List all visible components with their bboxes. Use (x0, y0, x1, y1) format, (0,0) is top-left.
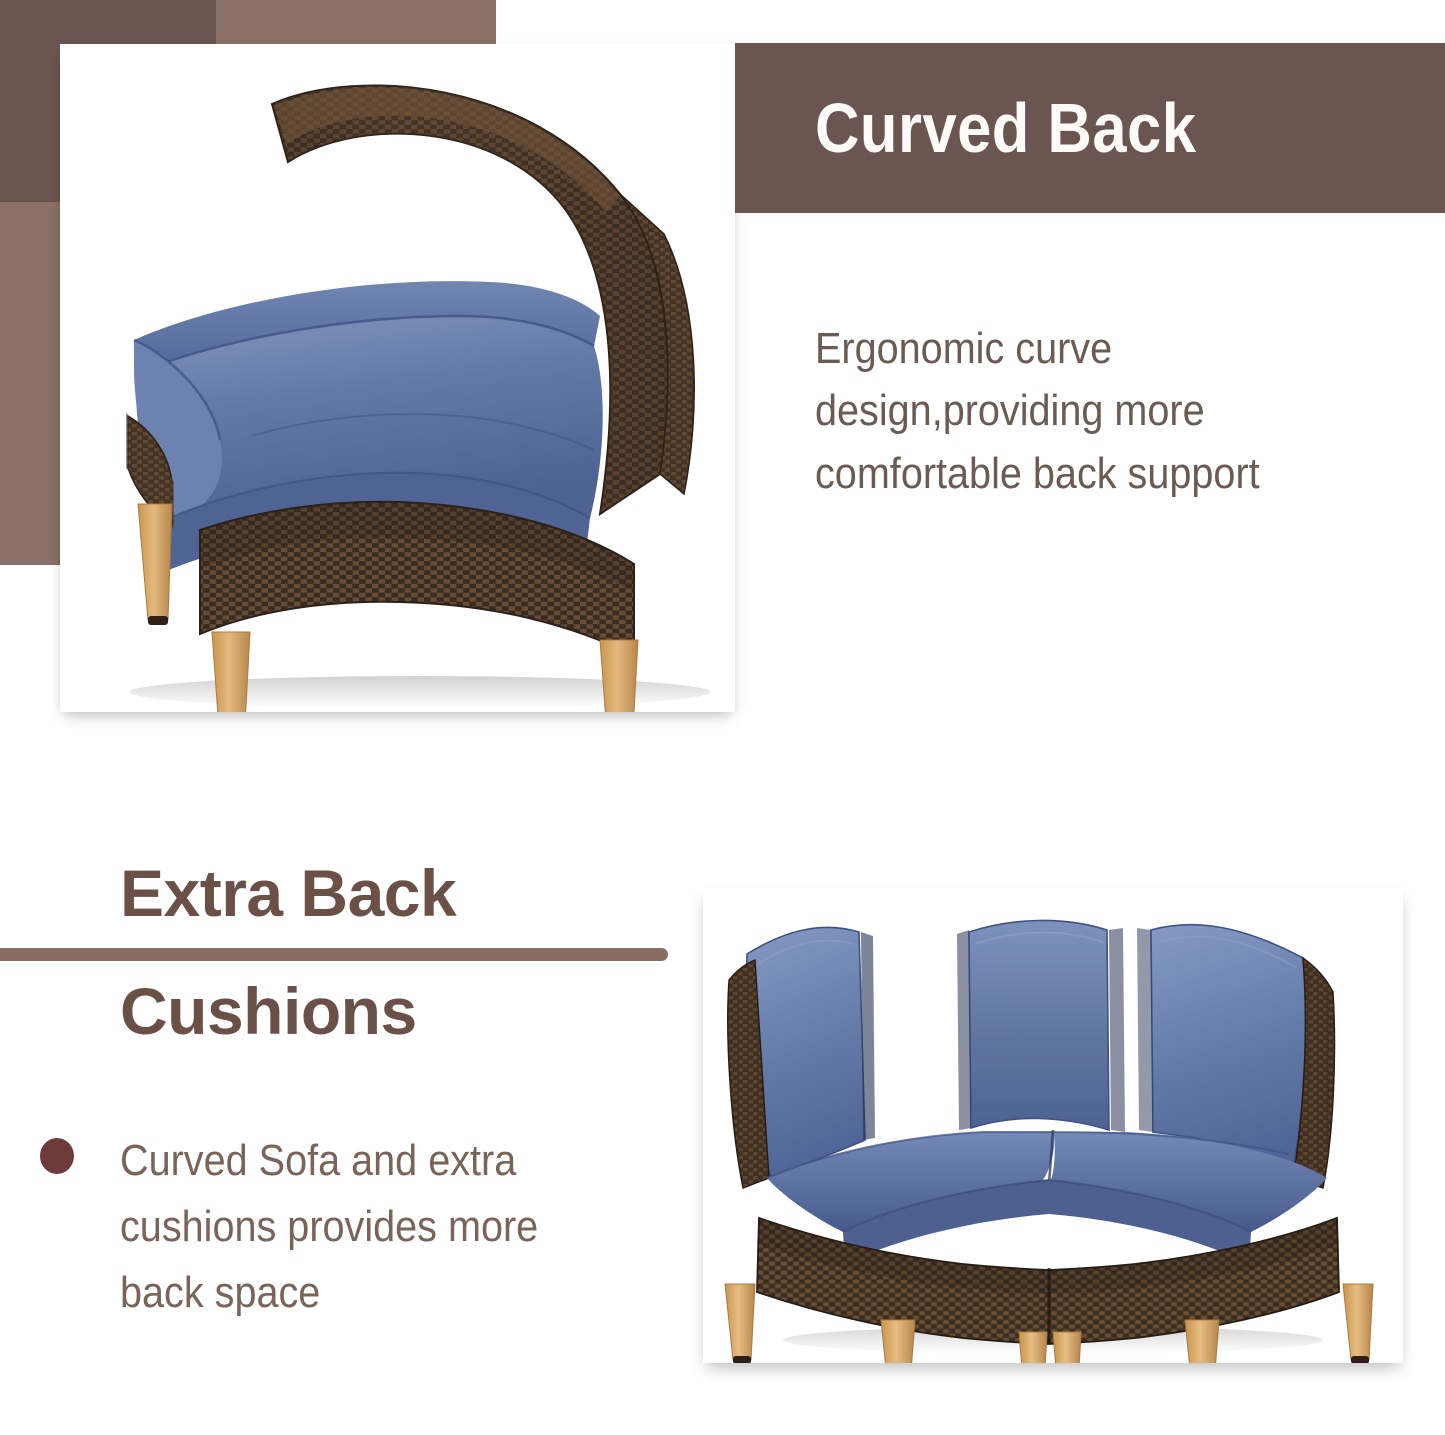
banner-curved-back: Curved Back (735, 43, 1445, 213)
decorative-block-top-light (216, 0, 496, 44)
curved-sectional-sofa-illustration (703, 888, 1403, 1363)
bullet-list-item: Curved Sofa and extra cushions provides … (40, 1128, 680, 1326)
banner-title: Curved Back (815, 88, 1196, 168)
infographic-page: Curved Back Ergonomic curve design,provi… (0, 0, 1445, 1435)
decorative-block-side-dark (0, 44, 60, 202)
heading-line-2: Cushions (120, 975, 700, 1048)
heading-block-extra-back-cushions: Extra Back Cushions (0, 860, 700, 1048)
product-photo-curved-back-chair (60, 44, 735, 712)
product-photo-curved-sectional-sofa (703, 888, 1403, 1363)
decorative-block-top-dark (0, 0, 216, 44)
heading-divider-rule (0, 948, 668, 961)
feature-description-curved-back: Ergonomic curve design,providing more co… (815, 318, 1355, 505)
decorative-block-side-light (0, 202, 60, 565)
curved-back-chair-illustration (60, 44, 735, 712)
bullet-dot-icon (40, 1138, 74, 1174)
heading-line-1: Extra Back (120, 860, 700, 926)
bullet-text: Curved Sofa and extra cushions provides … (120, 1128, 624, 1326)
